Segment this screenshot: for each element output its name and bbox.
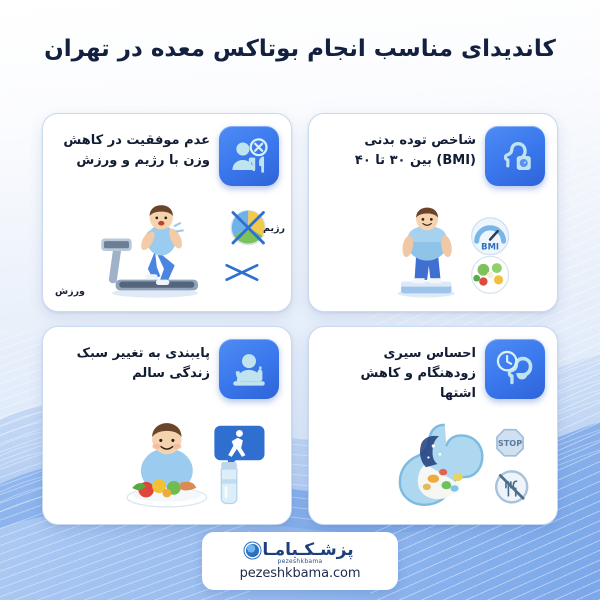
illustration-stomach-with-food: STOP	[309, 412, 557, 524]
illustration-person-with-salad-and-water	[43, 412, 291, 524]
card-header: شاخص توده بدنی (BMI) بین ۳۰ تا ۴۰	[309, 114, 557, 186]
person-healthy-meal-icon	[219, 339, 279, 399]
card-header: عدم موفقیت در کاهش وزن با رژیم و ورزش	[43, 114, 291, 186]
card-diet-exercise-failure[interactable]: عدم موفقیت در کاهش وزن با رژیم و ورزش	[42, 113, 292, 312]
logo-subtitle: pezeshkbama	[277, 558, 322, 565]
clock-stomach-icon	[485, 339, 545, 399]
card-title-diet-exercise: عدم موفقیت در کاهش وزن با رژیم و ورزش	[55, 126, 210, 171]
footer-logo-card[interactable]: پزشـکـبامـا pezeshkbama pezeshkbama.com	[202, 532, 398, 590]
annotation-exercise: ورزش	[55, 286, 85, 297]
site-url[interactable]: pezeshkbama.com	[240, 566, 361, 581]
logo-mark-icon	[246, 544, 259, 557]
annotation-diet: رژیم	[263, 223, 285, 234]
illustration-overweight-person-on-scale: BMI	[309, 199, 557, 311]
svg-text:STOP: STOP	[498, 438, 522, 448]
person-no-food-icon	[219, 126, 279, 186]
card-bmi[interactable]: شاخص توده بدنی (BMI) بین ۳۰ تا ۴۰	[308, 113, 558, 312]
svg-text:BMI: BMI	[481, 242, 499, 252]
card-title-lifestyle: پایبندی به تغییر سبک زندگی سالم	[55, 339, 210, 384]
illustration-person-on-treadmill: رژیم ورزش	[43, 199, 291, 311]
stomach-scale-icon	[485, 126, 545, 186]
card-lifestyle-change[interactable]: پایبندی به تغییر سبک زندگی سالم	[42, 326, 292, 525]
card-title-bmi: شاخص توده بدنی (BMI) بین ۳۰ تا ۴۰	[321, 126, 476, 171]
logo-row: پزشـکـبامـا	[246, 542, 353, 559]
logo-name-fa: پزشـکـبامـا	[262, 542, 353, 559]
card-early-satiety[interactable]: احساس سیری زودهنگام و کاهش اشتها	[308, 326, 558, 525]
card-title-early-satiety: احساس سیری زودهنگام و کاهش اشتها	[321, 339, 476, 404]
card-header: پایبندی به تغییر سبک زندگی سالم	[43, 327, 291, 399]
page-title: کاندیدای مناسب انجام بوتاکس معده در تهرا…	[0, 34, 600, 65]
candidate-cards-grid: شاخص توده بدنی (BMI) بین ۳۰ تا ۴۰	[42, 113, 558, 525]
card-header: احساس سیری زودهنگام و کاهش اشتها	[309, 327, 557, 404]
